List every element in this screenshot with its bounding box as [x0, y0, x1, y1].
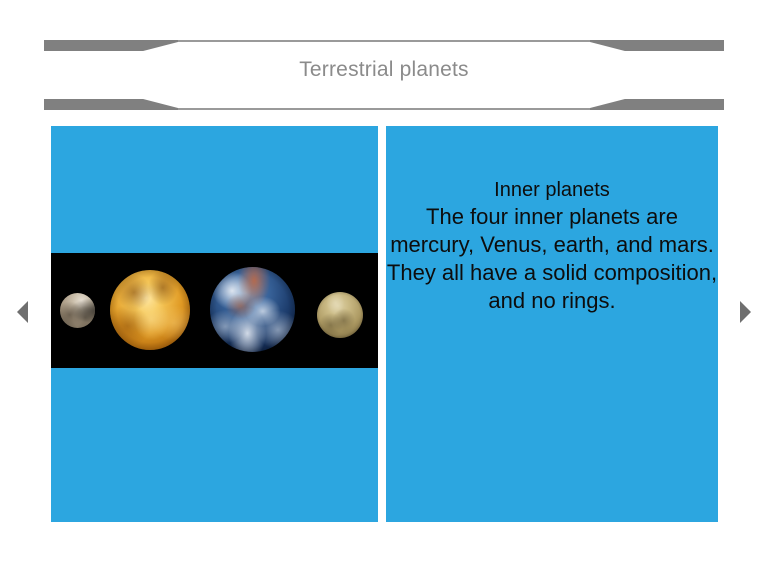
next-slide-arrow-icon[interactable]: [740, 301, 751, 323]
right-panel-text-block: Inner planets The four inner planets are…: [386, 178, 718, 315]
slide-title-band: Terrestrial planets: [0, 36, 768, 114]
title-rule-top-right-bar: [590, 40, 724, 51]
planet-mars: [317, 292, 363, 338]
planet-mercury: [60, 293, 95, 328]
inner-planets-body-text: The four inner planets are mercury, Venu…: [386, 203, 718, 315]
right-content-panel: Inner planets The four inner planets are…: [386, 126, 718, 522]
title-rule-bottom: [44, 99, 724, 110]
title-rule-top: [44, 40, 724, 51]
planet-mars-surface: [317, 292, 363, 338]
page-title: Terrestrial planets: [0, 58, 768, 82]
planet-venus-surface: [110, 270, 190, 350]
inner-planets-heading: Inner planets: [386, 178, 718, 203]
title-rule-top-left-bar: [44, 40, 178, 51]
title-rule-bottom-right-bar: [590, 99, 724, 110]
planet-earth: [210, 267, 295, 352]
planet-venus: [110, 270, 190, 350]
planet-mercury-surface: [60, 293, 95, 328]
title-rule-bottom-left-bar: [44, 99, 178, 110]
left-content-panel: [51, 126, 378, 522]
planet-earth-surface: [210, 267, 295, 352]
previous-slide-arrow-icon[interactable]: [17, 301, 28, 323]
planets-image: [51, 253, 378, 368]
